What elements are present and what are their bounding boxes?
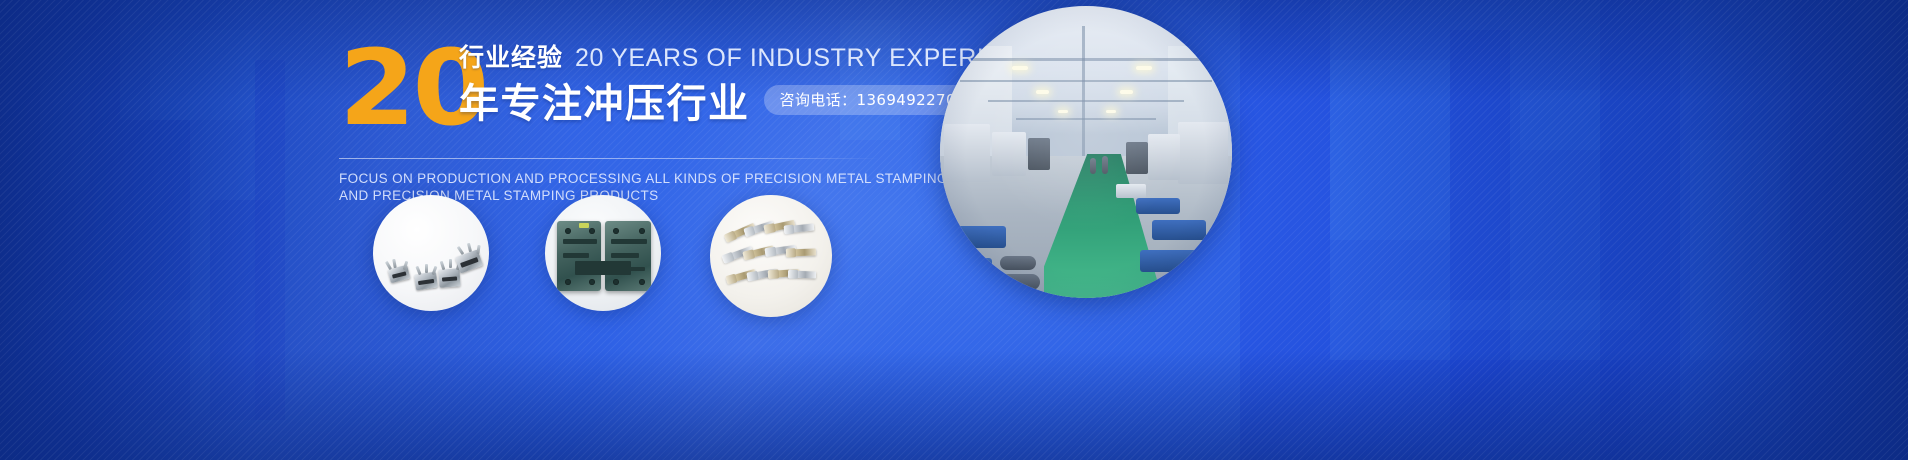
- headline-text-column: 行业经验 20 YEARS OF INDUSTRY EXPERIENCE 年专注…: [459, 38, 899, 124]
- factory-photo-shading: [940, 6, 1232, 298]
- headline-row: 20 行业经验 20 YEARS OF INDUSTRY EXPERIENCE …: [339, 36, 899, 144]
- headline-line-one: 行业经验 20 YEARS OF INDUSTRY EXPERIENCE: [459, 38, 899, 72]
- product-circle-usb-connectors: [373, 195, 489, 311]
- factory-workshop-photo: [940, 6, 1232, 298]
- metal-pins-photo: [710, 195, 832, 317]
- headline-cn-small: 行业经验: [459, 38, 563, 74]
- headline-cn-large: 年专注冲压行业: [459, 71, 750, 129]
- headline-divider: [339, 158, 879, 159]
- product-circle-stamping-mold: [545, 195, 661, 311]
- headline-block: 20 行业经验 20 YEARS OF INDUSTRY EXPERIENCE …: [339, 36, 899, 144]
- promo-banner: 20 行业经验 20 YEARS OF INDUSTRY EXPERIENCE …: [0, 0, 1908, 460]
- usb-connectors-photo: [373, 195, 489, 311]
- stamping-mold-photo: [545, 195, 661, 311]
- product-circle-metal-pins: [710, 195, 832, 317]
- headline-line-two: 年专注冲压行业 咨询电话：13694922701: [459, 76, 899, 124]
- subtitle-line-1: FOCUS ON PRODUCTION AND PROCESSING ALL K…: [339, 170, 899, 187]
